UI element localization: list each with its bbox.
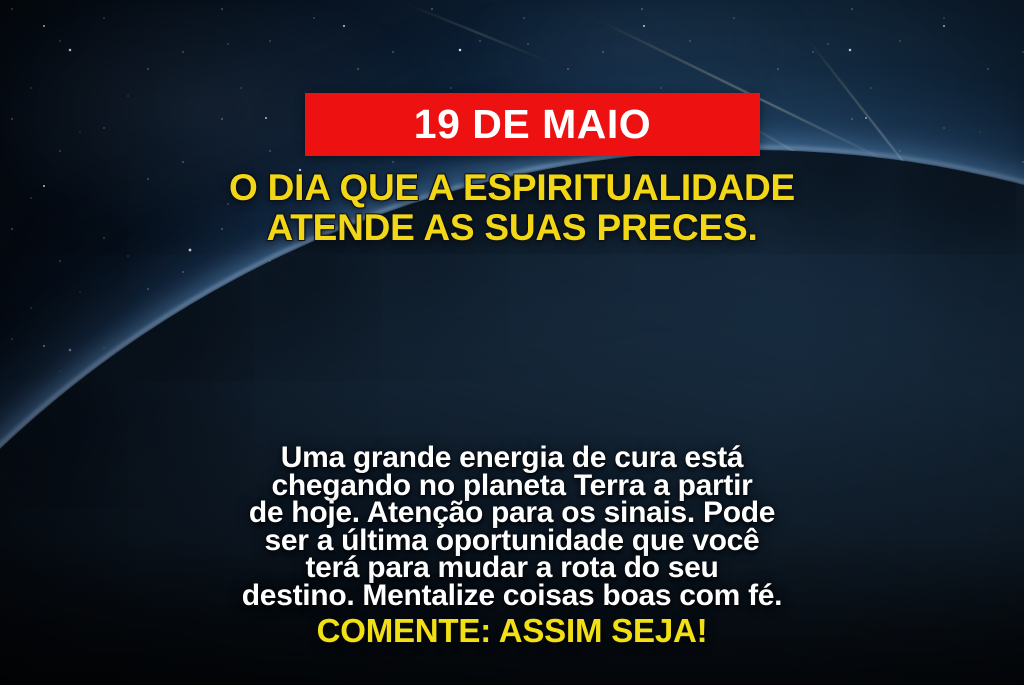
body-line-2: chegando no planeta Terra a partir (0, 472, 1024, 500)
body-line-6: destino. Mentalize coisas boas com fé. (0, 582, 1024, 610)
body-line-5: terá para mudar a rota do seu (0, 554, 1024, 582)
social-post-poster: 19 DE MAIO O DIA QUE A ESPIRITUALIDADE A… (0, 0, 1024, 685)
body-copy: Uma grande energia de cura está chegando… (0, 444, 1024, 609)
call-to-action-label: COMENTE: ASSIM SEJA! (317, 612, 708, 649)
date-banner: 19 DE MAIO (305, 93, 760, 156)
body-line-3: de hoje. Atenção para os sinais. Pode (0, 499, 1024, 527)
body-line-1: Uma grande energia de cura está (0, 444, 1024, 472)
body-line-4: ser a última oportunidade que você (0, 527, 1024, 555)
headline-line-1: O DIA QUE A ESPIRITUALIDADE (0, 168, 1024, 208)
call-to-action: COMENTE: ASSIM SEJA! (0, 613, 1024, 649)
headline: O DIA QUE A ESPIRITUALIDADE ATENDE AS SU… (0, 168, 1024, 248)
headline-line-2: ATENDE AS SUAS PRECES. (0, 208, 1024, 248)
date-banner-label: 19 DE MAIO (414, 104, 651, 145)
poster-content: 19 DE MAIO O DIA QUE A ESPIRITUALIDADE A… (0, 0, 1024, 685)
